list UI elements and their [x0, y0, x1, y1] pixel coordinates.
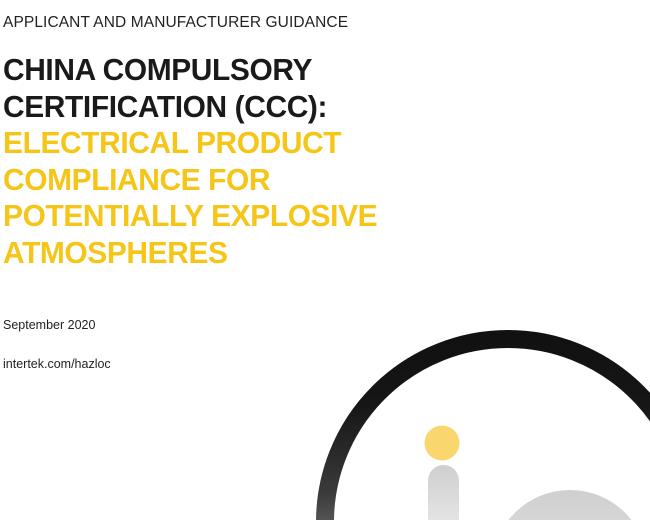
cover-eyebrow: APPLICANT AND MANUFACTURER GUIDANCE [3, 14, 348, 32]
title-line-2: CERTIFICATION (CCC): [3, 89, 621, 126]
publication-date: September 2020 [3, 318, 95, 332]
title-line-3: ELECTRICAL PRODUCT [3, 125, 621, 162]
website-url[interactable]: intertek.com/hazloc [3, 357, 111, 371]
title-line-5: POTENTIALLY EXPLOSIVE [3, 198, 621, 235]
cover-title: CHINA COMPULSORY CERTIFICATION (CCC): EL… [3, 52, 643, 271]
cover-text-layer: APPLICANT AND MANUFACTURER GUIDANCE CHIN… [0, 0, 650, 520]
title-line-6: ATMOSPHERES [3, 235, 621, 272]
title-line-1: CHINA COMPULSORY [3, 52, 621, 89]
document-cover-page: APPLICANT AND MANUFACTURER GUIDANCE CHIN… [0, 0, 650, 520]
title-line-4: COMPLIANCE FOR [3, 162, 621, 199]
